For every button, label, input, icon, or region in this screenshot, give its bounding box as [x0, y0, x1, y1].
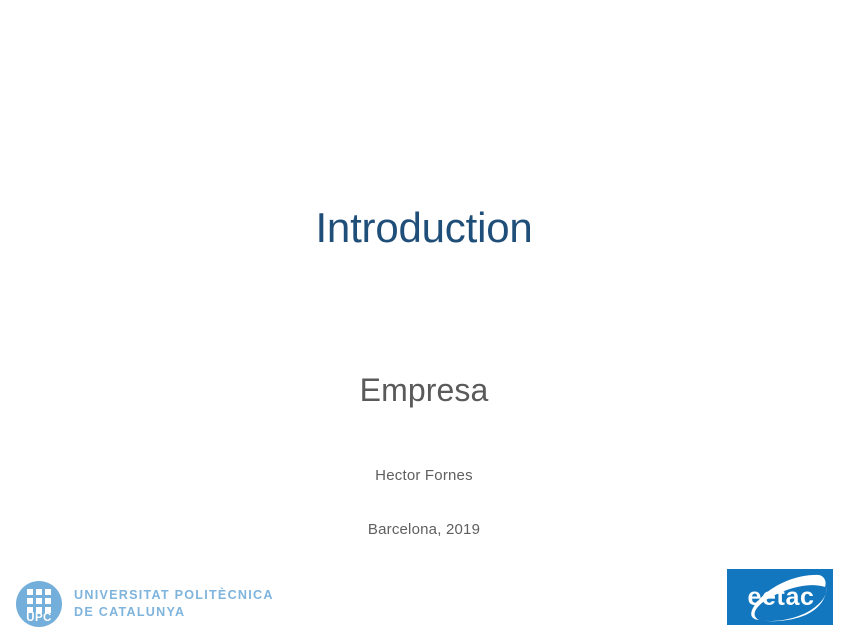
eetac-logo: eetac	[727, 569, 833, 625]
eetac-wordmark: eetac	[727, 569, 833, 625]
upc-mark-label: UPC	[16, 612, 62, 625]
upc-logo-icon: UPC	[16, 581, 62, 627]
upc-wordmark: UNIVERSITAT POLITÈCNICA DE CATALUNYA	[74, 587, 274, 622]
upc-wordmark-line-1: UNIVERSITAT POLITÈCNICA	[74, 587, 274, 605]
slide-subtitle: Empresa	[0, 368, 848, 412]
slide-author: Hector Fornes	[0, 465, 848, 487]
slide-place-year: Barcelona, 2019	[0, 519, 848, 541]
slide-title: Introduction	[0, 199, 848, 257]
presentation-slide: Introduction Empresa Hector Fornes Barce…	[0, 0, 848, 636]
upc-logo: UPC UNIVERSITAT POLITÈCNICA DE CATALUNYA	[16, 578, 286, 630]
upc-wordmark-line-2: DE CATALUNYA	[74, 604, 274, 622]
slide-text-block: Introduction Empresa Hector Fornes Barce…	[0, 0, 848, 636]
upc-grid-icon	[27, 589, 51, 613]
